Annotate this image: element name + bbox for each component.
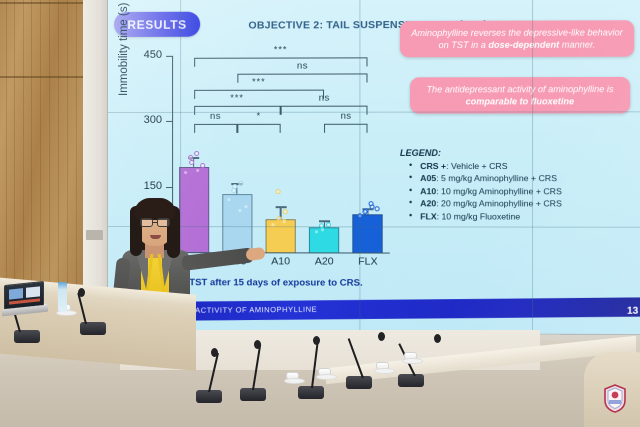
data-point — [194, 151, 199, 156]
microphone-head — [378, 332, 385, 341]
microphone-head — [211, 348, 218, 357]
legend-item-key: FLX — [420, 211, 436, 221]
legend-item-key: A20 — [420, 199, 436, 209]
significance-label: *** — [194, 77, 324, 87]
slide-number: 13 — [627, 306, 638, 317]
teacup — [286, 372, 299, 382]
data-point — [276, 216, 281, 221]
water-bottle — [58, 282, 67, 312]
legend-item-description: : 5 mg/kg Aminophylline + CRS — [436, 174, 557, 184]
microphone-base — [14, 330, 40, 343]
legend-item: FLX: 10 mg/kg Fluoxetine — [420, 210, 640, 223]
significance-bracket: * — [237, 124, 280, 138]
y-axis-tick-label: 450 — [144, 49, 162, 61]
bracket-right — [367, 124, 368, 133]
legend-item: A10: 10 mg/kg Aminophylline + CRS — [420, 185, 640, 198]
teacup — [318, 368, 331, 378]
y-axis-label: Immobility time (s) — [118, 3, 130, 96]
chart-legend: LEGEND: CRS +: Vehicle + CRSA05: 5 mg/kg… — [400, 148, 640, 223]
teacup — [376, 362, 389, 372]
significance-brackets: ***ns******nsns*ns — [116, 43, 396, 44]
microphone-head — [254, 340, 261, 349]
bracket-right — [367, 73, 368, 82]
legend-list: CRS +: Vehicle + CRSA05: 5 mg/kg Aminoph… — [420, 160, 640, 223]
y-axis-tick-label: 150 — [144, 180, 162, 192]
data-point — [239, 181, 244, 186]
institution-crest-emblem — [602, 383, 628, 413]
data-point — [281, 219, 286, 224]
presenter-arm-right — [181, 247, 254, 271]
significance-label: * — [237, 111, 280, 121]
error-bar-cap — [275, 206, 286, 207]
bracket-left — [324, 124, 325, 133]
significance-bracket: ns — [324, 124, 368, 138]
data-point — [357, 213, 362, 218]
microphone-base — [398, 374, 424, 387]
bracket-right — [280, 124, 281, 133]
results-badge-label: RESULTS — [127, 17, 186, 31]
x-axis-tick-label: A10 — [257, 255, 303, 267]
data-point — [374, 206, 379, 211]
significance-label: ns — [281, 93, 368, 104]
legend-item: CRS +: Vehicle + CRS — [420, 160, 640, 173]
microphone-head — [434, 334, 441, 343]
legend-item: A05: 5 mg/kg Aminophylline + CRS — [420, 173, 640, 186]
callout-one-tail: manner. — [559, 40, 595, 50]
bracket-top — [194, 106, 281, 107]
legend-item-description: : 20 mg/kg Aminophylline + CRS — [436, 199, 562, 209]
callout-two-emphasis: comparable to fluoxetine — [466, 96, 575, 106]
bracket-top — [194, 57, 368, 58]
x-axis-tick-label: A20 — [301, 255, 347, 267]
bracket-top — [281, 106, 368, 107]
legend-item-key: CRS + — [420, 161, 446, 171]
bracket-top — [194, 90, 324, 91]
bracket-left — [194, 58, 195, 67]
bracket-top — [194, 124, 237, 125]
callout-two-lead: The antidepressant activity of aminophyl… — [426, 84, 613, 94]
significance-bracket: ns — [194, 124, 237, 138]
legend-item-key: A05 — [420, 174, 436, 184]
microphone-head — [313, 336, 320, 345]
data-point — [195, 168, 200, 173]
bracket-top — [237, 73, 368, 74]
data-point — [368, 201, 373, 206]
legend-item-key: A10 — [420, 186, 436, 196]
data-point — [275, 189, 280, 194]
teacup — [404, 352, 417, 362]
presenter-glasses-right — [157, 218, 170, 227]
bar — [353, 214, 383, 253]
callout-one-emphasis: dose-dependent — [488, 40, 559, 50]
microphone-head — [78, 288, 85, 297]
y-axis-tick-label: 300 — [144, 114, 162, 126]
bracket-top — [237, 124, 280, 125]
conference-room-scene: RESULTS OBJECTIVE 2: TAIL SUSPENSION TES… — [0, 0, 640, 427]
callout-comparable-fluoxetine: The antidepressant activity of aminophyl… — [410, 77, 630, 114]
bracket-left — [194, 124, 195, 133]
microphone-base — [80, 322, 106, 335]
data-point — [232, 188, 237, 193]
legend-item-description: : Vehicle + CRS — [446, 161, 507, 171]
microphone-base — [346, 376, 372, 389]
bracket-left — [281, 106, 282, 115]
legend-item-description: : 10 mg/kg Aminophylline + CRS — [436, 186, 562, 196]
presenter-glasses-left — [140, 218, 153, 227]
significance-label: ns — [324, 111, 368, 122]
legend-item: A20: 20 mg/kg Aminophylline + CRS — [420, 198, 640, 211]
presenter-hair-front — [134, 198, 176, 220]
data-point — [326, 222, 331, 227]
significance-label: *** — [194, 44, 368, 55]
data-point — [282, 210, 287, 215]
x-axis-tick-label: FLX — [345, 255, 392, 267]
legend-title: LEGEND: — [400, 148, 640, 158]
bracket-left — [237, 124, 238, 133]
significance-label: *** — [194, 93, 281, 103]
presenter-glasses-bridge — [153, 222, 157, 223]
significance-label: ns — [194, 111, 237, 122]
callout-dose-dependent: Aminophylline reverses the depressive-li… — [400, 20, 634, 57]
significance-label: ns — [237, 60, 368, 71]
bracket-top — [324, 124, 368, 125]
legend-item-description: : 10 mg/kg Fluoxetine — [437, 211, 521, 221]
